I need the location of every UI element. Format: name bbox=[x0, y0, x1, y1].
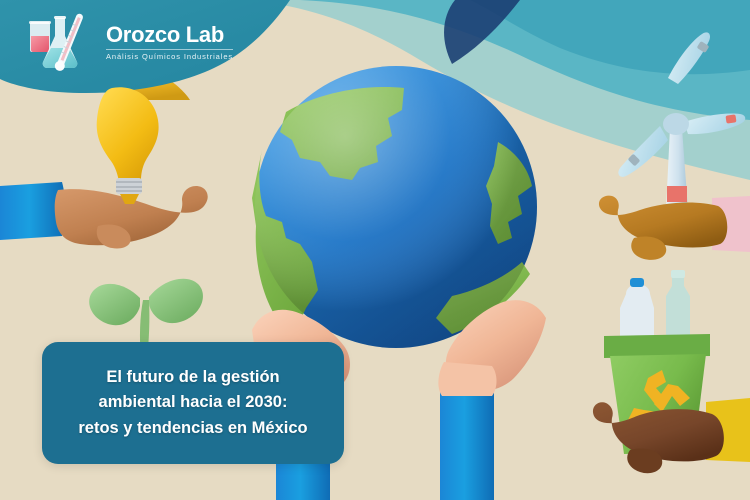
wrist-right bbox=[438, 362, 496, 396]
globe-illustration bbox=[252, 66, 537, 348]
lab-glassware-icon bbox=[22, 8, 100, 74]
article-title-banner: El futuro de la gestión ambiental hacia … bbox=[42, 342, 344, 464]
brand-name: Orozco Lab bbox=[106, 23, 233, 46]
bottle-clear-cap bbox=[671, 270, 685, 278]
brand-logo[interactable]: Orozco Lab Análisis Químicos Industriale… bbox=[22, 8, 237, 74]
bottle-white-cap bbox=[630, 278, 644, 287]
poster-canvas: Orozco Lab Análisis Químicos Industriale… bbox=[0, 0, 750, 500]
brand-tagline: Análisis Químicos Industriales bbox=[106, 52, 233, 61]
turbine-blade-marker-2 bbox=[725, 114, 736, 123]
article-title: El futuro de la gestión ambiental hacia … bbox=[62, 365, 323, 442]
turbine-nacelle bbox=[663, 113, 689, 135]
logo-divider bbox=[106, 49, 233, 50]
forearm-right-sleeve bbox=[440, 392, 494, 500]
turbine-tower-band bbox=[667, 186, 687, 202]
brand-logo-text: Orozco Lab Análisis Químicos Industriale… bbox=[106, 21, 233, 61]
beaker-icon bbox=[29, 21, 51, 52]
